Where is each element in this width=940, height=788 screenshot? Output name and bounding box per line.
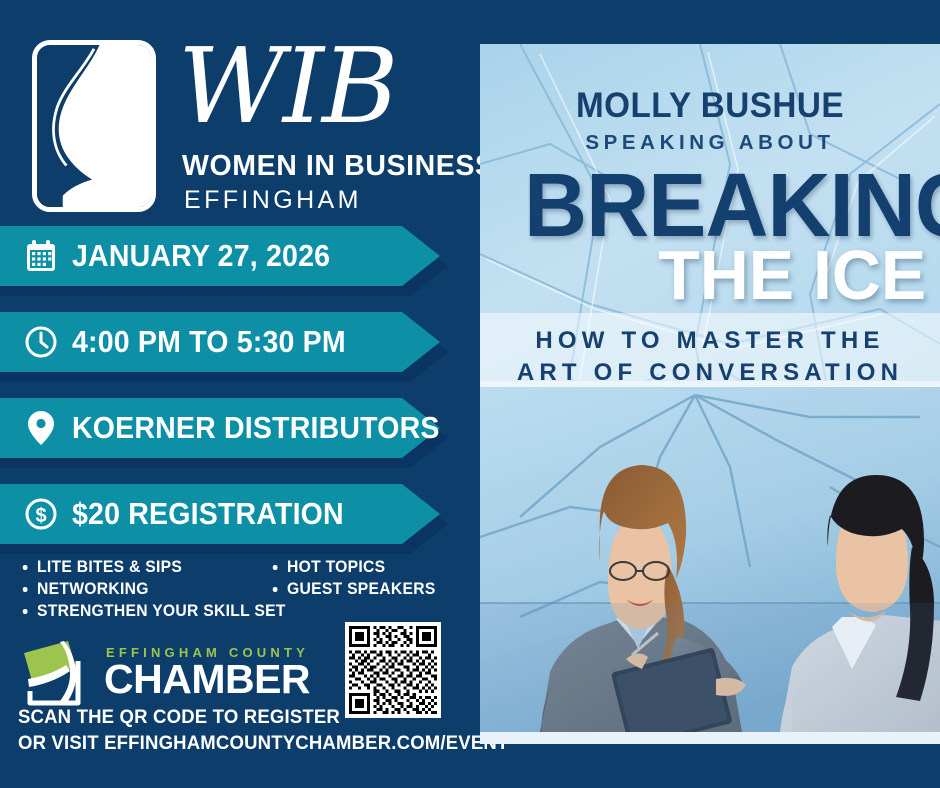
wib-wordmark: WIB — [178, 34, 396, 138]
calendar-icon — [24, 238, 58, 274]
speaker-photo — [480, 387, 940, 732]
subtitle-line-1: HOW TO MASTER THE — [480, 325, 940, 357]
photo-bottom-edge — [480, 732, 940, 744]
detail-row-time: 4:00 PM TO 5:30 PM — [0, 312, 470, 388]
list-item: HOT TOPICS — [268, 556, 449, 578]
cta-line-1: SCAN THE QR CODE TO REGISTER — [18, 704, 446, 730]
speaking-about-kicker: SPEAKING ABOUT — [480, 131, 940, 155]
chamber-logo-block: EFFINGHAM COUNTY CHAMBER — [18, 637, 318, 709]
feature-panel: MOLLY BUSHUE SPEAKING ABOUT BREAKING THE… — [480, 44, 940, 744]
detail-label-date: JANUARY 27, 2026 — [72, 238, 330, 274]
features-bullet-lists: LITE BITES & SIPS NETWORKING STRENGTHEN … — [18, 556, 458, 622]
list-item: NETWORKING — [18, 578, 256, 600]
event-details-list: JANUARY 27, 2026 4:00 PM TO 5:30 PM — [0, 226, 470, 570]
wib-full-name: WOMEN IN BUSINESS — [182, 150, 495, 183]
detail-row-date: JANUARY 27, 2026 — [0, 226, 470, 302]
registration-cta: SCAN THE QR CODE TO REGISTER OR VISIT EF… — [18, 704, 468, 756]
speaker-name: MOLLY BUSHUE — [492, 86, 929, 126]
left-column: WIB WOMEN IN BUSINESS EFFINGHAM — [0, 0, 470, 788]
dollar-circle-icon: $ — [24, 496, 58, 532]
clock-icon — [24, 324, 58, 360]
detail-label-price: $20 REGISTRATION — [72, 496, 344, 532]
chamber-name: CHAMBER — [104, 659, 310, 700]
detail-label-location: KOERNER DISTRIBUTORS — [72, 410, 440, 446]
list-item: LITE BITES & SIPS — [18, 556, 256, 578]
detail-row-price: $ $20 REGISTRATION — [0, 484, 470, 560]
svg-text:$: $ — [35, 505, 46, 527]
map-pin-icon — [24, 410, 58, 446]
woman-profile-icon — [32, 40, 156, 212]
chamber-swoosh-icon — [18, 637, 90, 709]
subtitle-text: HOW TO MASTER THE ART OF CONVERSATION — [480, 325, 940, 389]
bullet-column-right: HOT TOPICS GUEST SPEAKERS — [268, 556, 458, 622]
list-item: GUEST SPEAKERS — [268, 578, 449, 600]
wib-chapter: EFFINGHAM — [184, 186, 362, 215]
detail-row-location: KOERNER DISTRIBUTORS — [0, 398, 470, 474]
bullet-column-left: LITE BITES & SIPS NETWORKING STRENGTHEN … — [18, 556, 268, 622]
wib-logo-block: WIB WOMEN IN BUSINESS EFFINGHAM — [32, 40, 452, 220]
detail-label-time: 4:00 PM TO 5:30 PM — [72, 324, 346, 360]
cta-line-2: OR VISIT EFFINGHAMCOUNTYCHAMBER.COM/EVEN… — [18, 730, 446, 756]
list-item: STRENGTHEN YOUR SKILL SET — [18, 600, 256, 622]
event-flyer: WIB WOMEN IN BUSINESS EFFINGHAM — [0, 0, 940, 788]
headline-the-ice: THE ICE — [658, 240, 926, 310]
